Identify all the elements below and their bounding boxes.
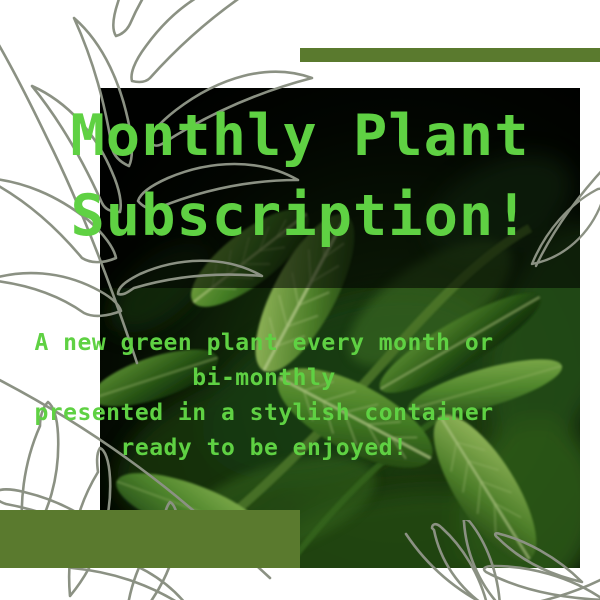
page-title: Monthly Plant Subscription!	[0, 96, 600, 256]
body-copy: A new green plant every month or bi-mont…	[0, 326, 528, 466]
body-line-1: A new green plant every month or	[0, 326, 528, 361]
body-line-3: presented in a stylish container	[0, 396, 528, 431]
bottom-accent-bar-overlay	[100, 510, 300, 568]
top-accent-bar	[300, 48, 600, 62]
poster-canvas: Monthly Plant Subscription! A new green …	[0, 0, 600, 600]
headline-line-1: Monthly Plant	[0, 96, 600, 176]
body-line-4: ready to be enjoyed!	[0, 431, 528, 466]
headline-line-2: Subscription!	[0, 176, 600, 256]
body-line-2: bi-monthly	[0, 361, 528, 396]
